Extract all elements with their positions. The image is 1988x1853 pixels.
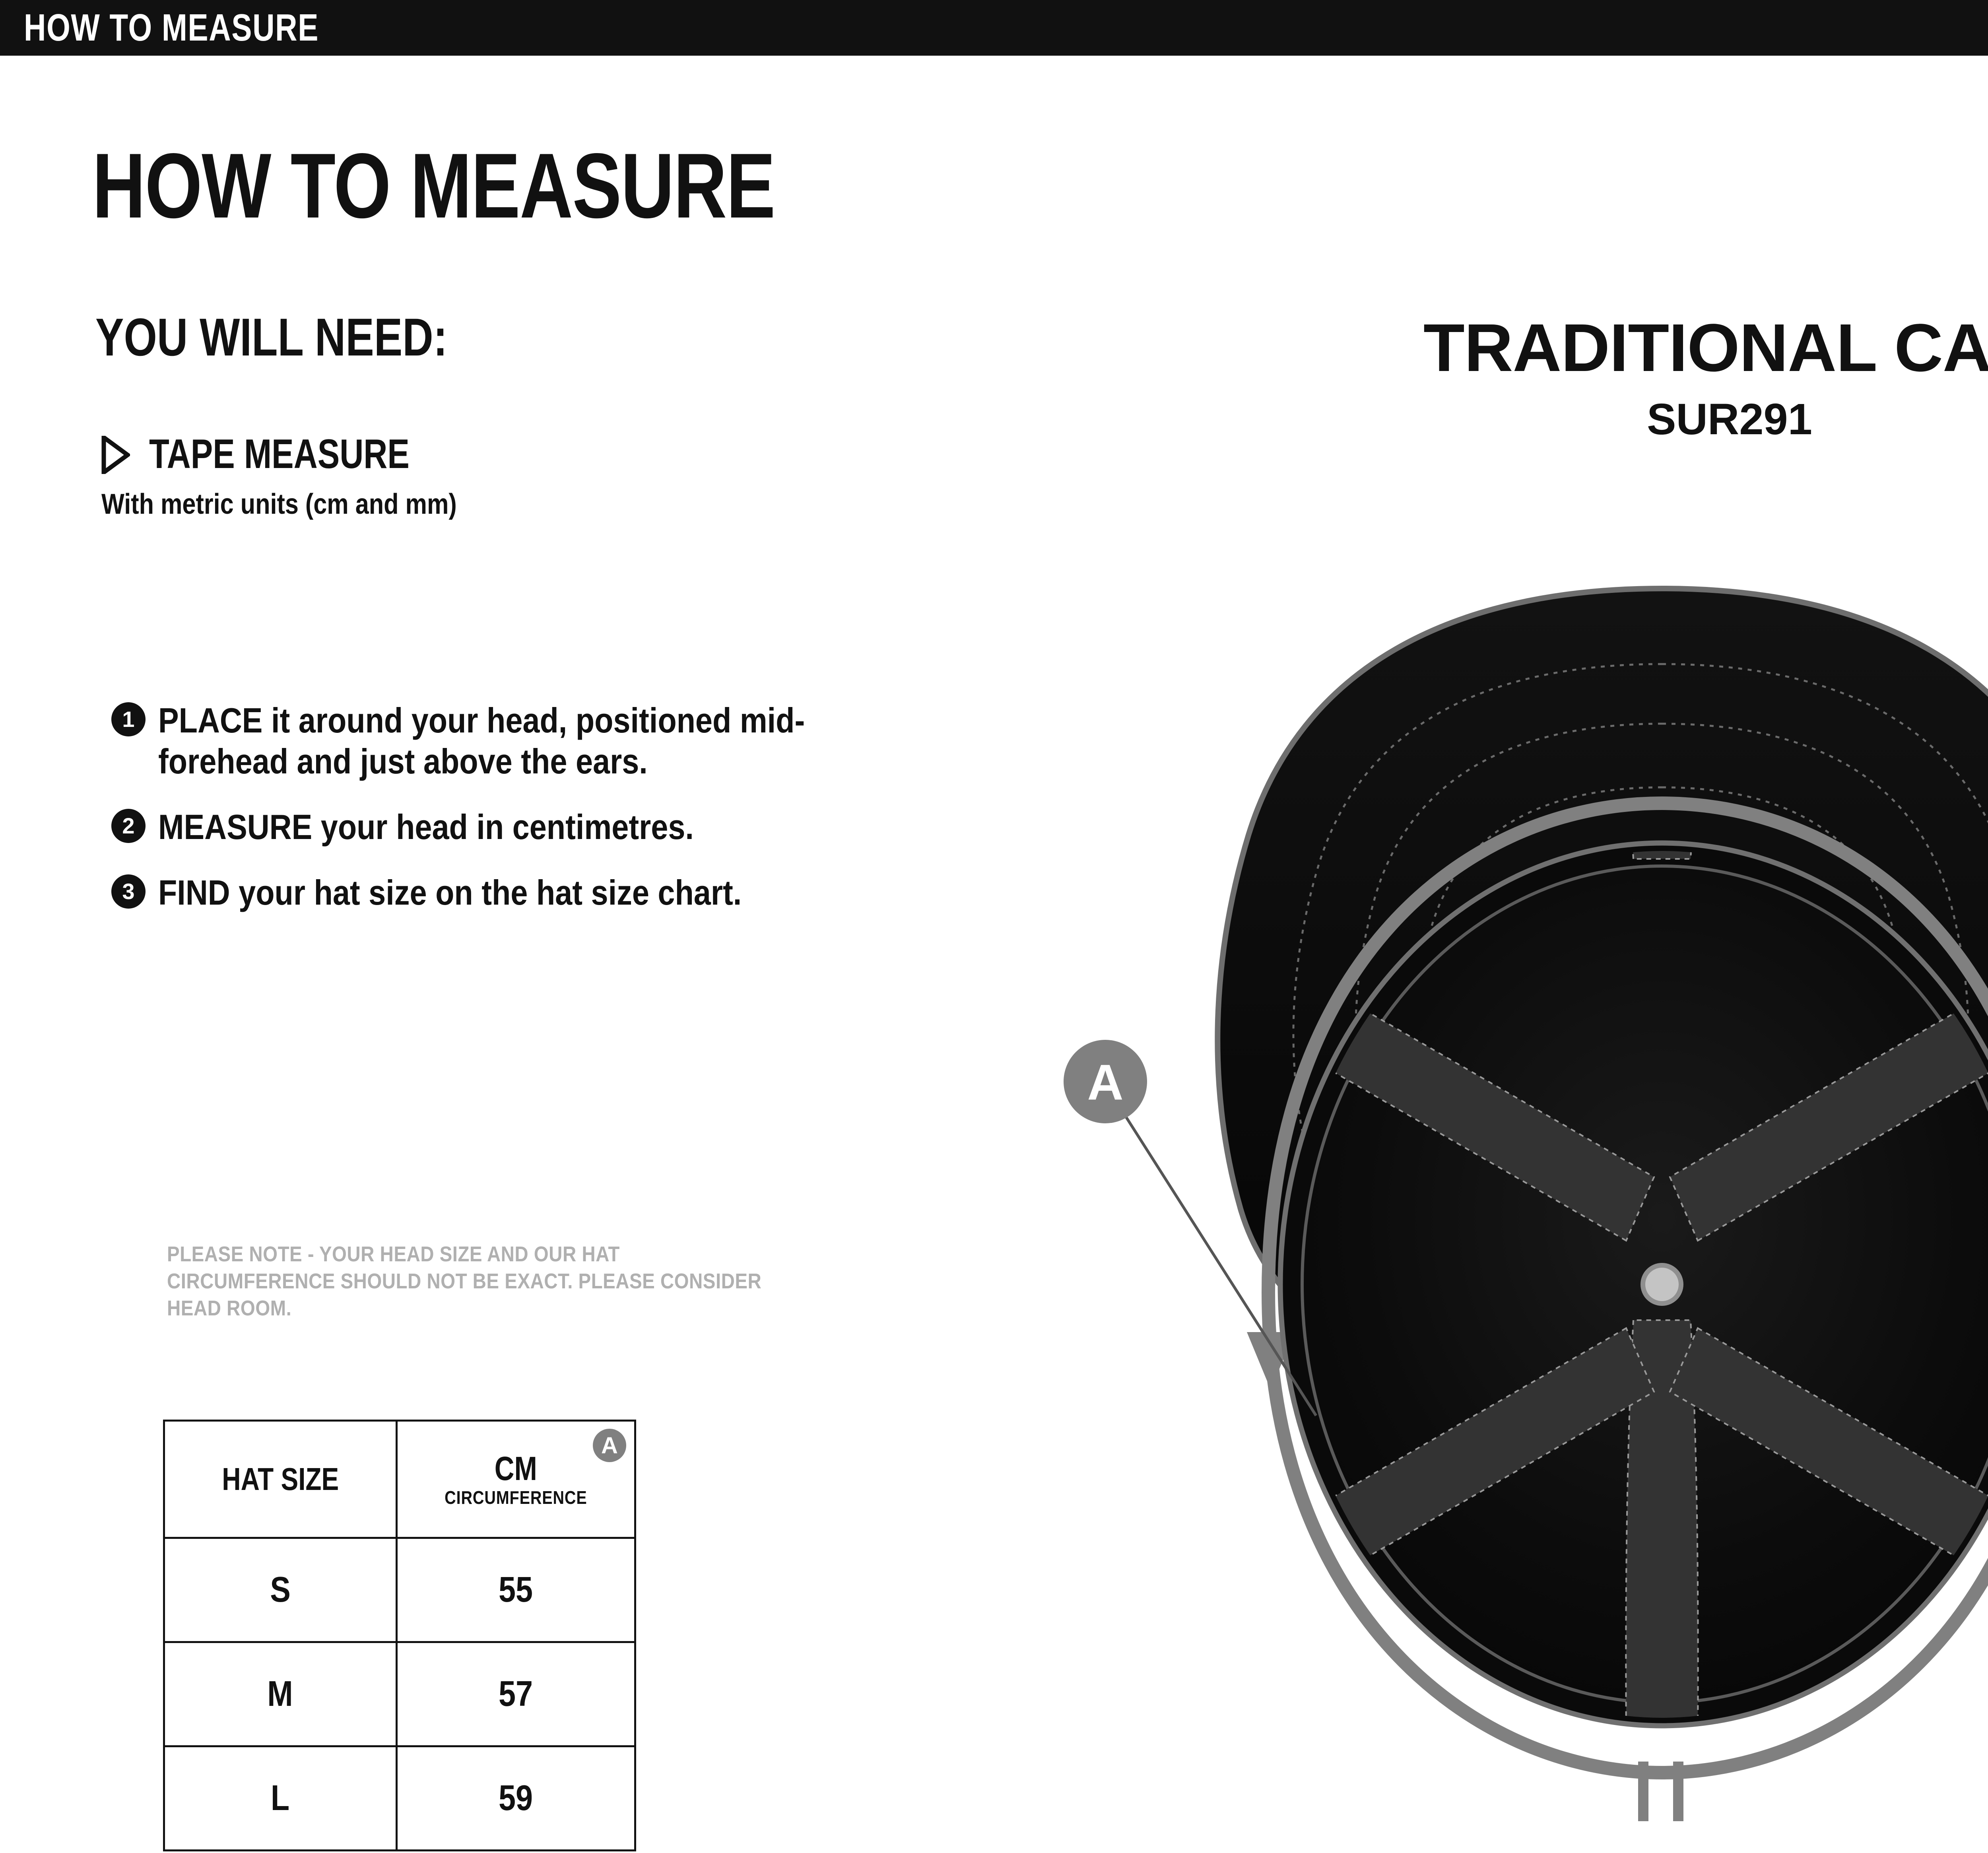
table-header-row: HAT SIZE A CM CIRCUMFERENCE xyxy=(164,1421,635,1538)
need-item-label: TAPE MEASURE xyxy=(149,433,410,475)
table-header-hat-size: HAT SIZE xyxy=(164,1421,397,1538)
cell-hat-size: S xyxy=(164,1538,397,1642)
step-number-badge: 1 xyxy=(111,702,146,736)
step-text: MEASURE your head in centimetres. xyxy=(158,806,894,847)
table-row: M 57 xyxy=(164,1642,635,1746)
list-item: 3 FIND your hat size on the hat size cha… xyxy=(111,872,851,913)
step-text: FIND your hat size on the hat size chart… xyxy=(158,872,894,913)
please-note-text: PLEASE NOTE - YOUR HEAD SIZE AND OUR HAT… xyxy=(167,1241,762,1322)
steps-list: 1 PLACE it around your head, positioned … xyxy=(111,700,851,938)
page-title: HOW TO MEASURE xyxy=(92,140,775,232)
you-will-need-heading: YOU WILL NEED: xyxy=(95,311,447,364)
list-item: 1 PLACE it around your head, positioned … xyxy=(111,700,851,782)
tape-end-tick-right xyxy=(1673,1762,1683,1821)
product-code: SUR291 xyxy=(1233,398,1988,441)
triangle-outline-icon xyxy=(101,436,130,474)
cell-hat-size: M xyxy=(164,1642,397,1746)
cell-cm: 55 xyxy=(396,1538,635,1642)
step-number-badge: 3 xyxy=(111,874,146,909)
need-item-subtext: With metric units (cm and mm) xyxy=(101,490,457,519)
tape-end-tick-left xyxy=(1638,1762,1648,1821)
cell-cm: 59 xyxy=(396,1746,635,1851)
crown-button-icon xyxy=(1645,1268,1679,1301)
product-name: TRADITIONAL CAP xyxy=(1233,314,1988,382)
list-item: 2 MEASURE your head in centimetres. xyxy=(111,806,851,847)
cell-hat-size: L xyxy=(164,1746,397,1851)
need-item-tape-measure: TAPE MEASURE xyxy=(101,433,777,485)
step-number-badge: 2 xyxy=(111,809,146,843)
step-text: PLACE it around your head, positioned mi… xyxy=(158,700,894,782)
top-bar: HOW TO MEASURE SURRIDGE xyxy=(0,0,1988,56)
top-bar-title: HOW TO MEASURE xyxy=(24,9,319,47)
cap-top-view-illustration: A xyxy=(1042,565,1988,1853)
table-row: L 59 xyxy=(164,1746,635,1851)
cap-diagram: A xyxy=(1042,565,1988,1853)
hat-size-table: HAT SIZE A CM CIRCUMFERENCE S 55 M 57 L … xyxy=(163,1420,636,1851)
table-row: S 55 xyxy=(164,1538,635,1642)
table-header-cm-circumference: A CM CIRCUMFERENCE xyxy=(396,1421,635,1538)
callout-badge-label: A xyxy=(1087,1054,1124,1110)
status-badge: A xyxy=(593,1429,626,1462)
cell-cm: 57 xyxy=(396,1642,635,1746)
